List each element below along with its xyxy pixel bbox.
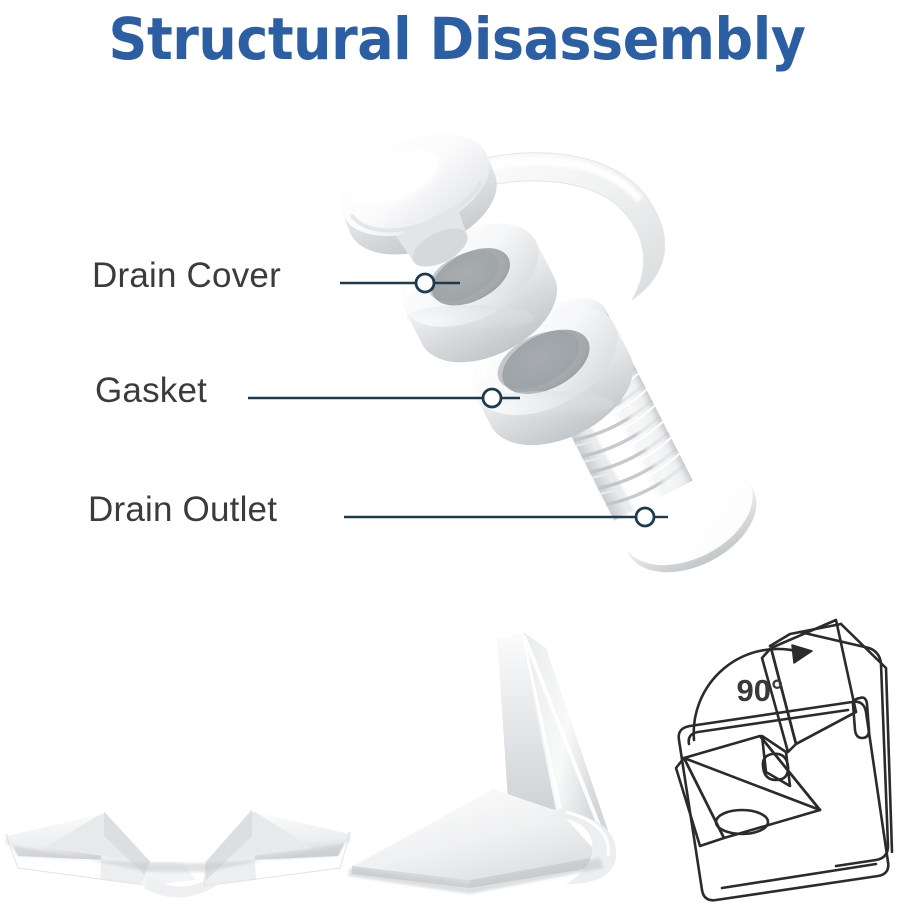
callout-leader-lines	[0, 0, 914, 914]
bottom-row-artwork: 90°	[0, 0, 914, 914]
part-drain-cover	[326, 114, 665, 383]
leader-drain-outlet	[344, 508, 668, 526]
leader-drain-cover	[340, 274, 460, 292]
page-title: Structural Disassembly	[32, 8, 882, 72]
drain-assembly-artwork	[0, 0, 914, 914]
angle-label: 90°	[737, 673, 784, 708]
corner-guard-installation-diagram: 90°	[676, 620, 892, 900]
part-gasket	[454, 283, 651, 468]
leader-gasket	[248, 389, 520, 407]
callout-label-drain-outlet: Drain Outlet	[88, 492, 277, 527]
corner-guard-unfolded	[6, 810, 350, 898]
corner-guard-folded	[348, 630, 616, 894]
callout-label-drain-cover: Drain Cover	[92, 258, 281, 293]
product-infographic: Structural Disassembly	[0, 0, 914, 914]
part-drain-outlet	[515, 285, 773, 592]
callout-label-gasket: Gasket	[95, 373, 207, 408]
